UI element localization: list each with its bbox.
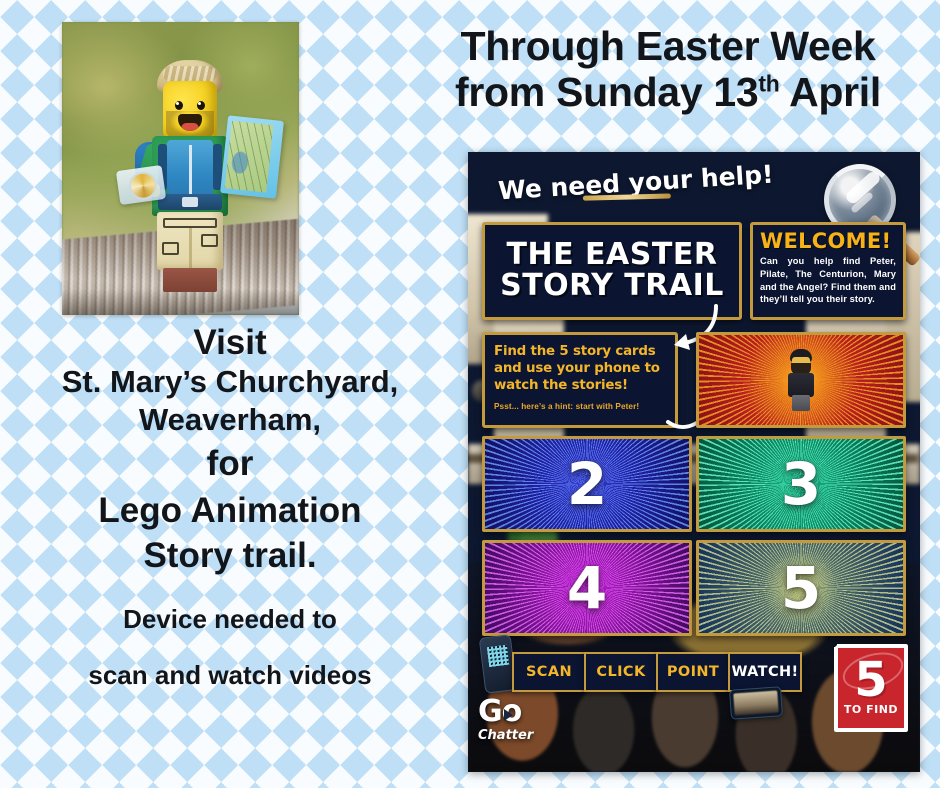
page-title: Through Easter Week from Sunday 13th Apr… xyxy=(404,24,932,116)
phone-video-icon xyxy=(729,686,783,720)
minifig-pocket-right xyxy=(201,234,218,247)
device-note-line-2: scan and watch videos xyxy=(8,659,452,692)
story-card-3[interactable]: 3 xyxy=(696,436,906,532)
gochatter-go-text: Go xyxy=(478,698,556,727)
headline-line-2: from Sunday 13th April xyxy=(404,70,932,116)
for-label: for xyxy=(8,439,452,488)
minifig-boot-left xyxy=(163,268,191,292)
click-button[interactable]: CLICK xyxy=(584,652,658,692)
headline-date-prefix: from Sunday 13 xyxy=(455,69,758,115)
hint-text: Psst... here’s a hint: start with Peter! xyxy=(494,402,666,411)
activity-line-1: Lego Animation xyxy=(8,488,452,534)
story-card-1-peter[interactable] xyxy=(696,332,906,428)
point-button[interactable]: POINT xyxy=(656,652,730,692)
minifig-boot-right xyxy=(189,268,217,292)
watch-button[interactable]: WATCH! xyxy=(728,652,802,692)
activity-line-2: Story trail. xyxy=(8,533,452,579)
minifig-hip-line xyxy=(163,218,217,228)
map-icon xyxy=(220,115,284,198)
log-shadow xyxy=(62,289,299,315)
story-card-5[interactable]: 5 xyxy=(696,540,906,636)
minifig-eye-right xyxy=(197,101,205,110)
minifig-legs xyxy=(157,212,223,270)
scan-button[interactable]: SCAN xyxy=(512,652,586,692)
instructions-text: Find the 5 story cards and use your phon… xyxy=(494,344,666,395)
minifig-pocket-left xyxy=(162,242,179,255)
poster-title-line-2: STORY TRAIL xyxy=(500,271,724,302)
stamp-caption: TO FIND xyxy=(844,703,898,716)
card-number-2: 2 xyxy=(567,455,607,513)
device-note-line-1: Device needed to xyxy=(8,603,452,636)
five-to-find-stamp: 5 TO FIND xyxy=(834,644,908,732)
welcome-body-text: Can you help find Peter, Pilate, The Cen… xyxy=(760,255,896,306)
gochatter-logo: Go Chatter xyxy=(478,698,556,743)
minifig-smile xyxy=(178,114,202,131)
minifig-eye-left xyxy=(175,101,183,110)
logo-go-label: Go xyxy=(478,694,521,729)
gochatter-chatter-text: Chatter xyxy=(478,728,556,743)
poster-title-line-1: THE EASTER xyxy=(507,240,718,271)
headline-date-suffix: April xyxy=(780,69,881,115)
minifig-jacket xyxy=(167,140,213,202)
play-icon xyxy=(504,709,513,721)
instructions-panel: Find the 5 story cards and use your phon… xyxy=(482,332,678,428)
poster-canvas: Through Easter Week from Sunday 13th Apr… xyxy=(0,0,940,788)
ordinal-suffix: th xyxy=(758,70,779,96)
body-text-block: Visit St. Mary’s Churchyard, Weaverham, … xyxy=(8,322,452,692)
poster-title-panel: THE EASTER STORY TRAIL xyxy=(482,222,742,320)
welcome-panel: WELCOME! Can you help find Peter, Pilate… xyxy=(750,222,906,320)
postmark-icon xyxy=(839,648,904,696)
headline-line-1: Through Easter Week xyxy=(404,24,932,70)
stamp-inner: 5 TO FIND xyxy=(838,648,904,728)
peter-body xyxy=(788,373,814,397)
easter-story-trail-poster: We need your help! THE EASTER STORY TRAI… xyxy=(468,152,920,772)
card-number-5: 5 xyxy=(781,559,821,617)
card-number-4: 4 xyxy=(567,559,607,617)
lego-hiker-photo xyxy=(62,22,299,315)
peter-legs xyxy=(792,395,810,411)
action-button-bar: SCAN CLICK POINT WATCH! xyxy=(512,652,800,692)
visit-label: Visit xyxy=(8,322,452,363)
address-line-2: Weaverham, xyxy=(8,401,452,439)
address-line-1: St. Mary’s Churchyard, xyxy=(8,363,452,401)
compass-icon xyxy=(116,165,166,205)
welcome-heading: WELCOME! xyxy=(760,231,896,252)
minifig-zipper xyxy=(189,145,192,195)
minifig-belt xyxy=(158,194,222,210)
peter-minifigure xyxy=(786,349,816,411)
hiker-minifigure xyxy=(144,60,236,290)
card-number-3: 3 xyxy=(781,455,821,513)
minifig-torso xyxy=(152,136,228,216)
story-card-2[interactable]: 2 xyxy=(482,436,692,532)
story-card-4[interactable]: 4 xyxy=(482,540,692,636)
minifig-head xyxy=(163,81,217,141)
